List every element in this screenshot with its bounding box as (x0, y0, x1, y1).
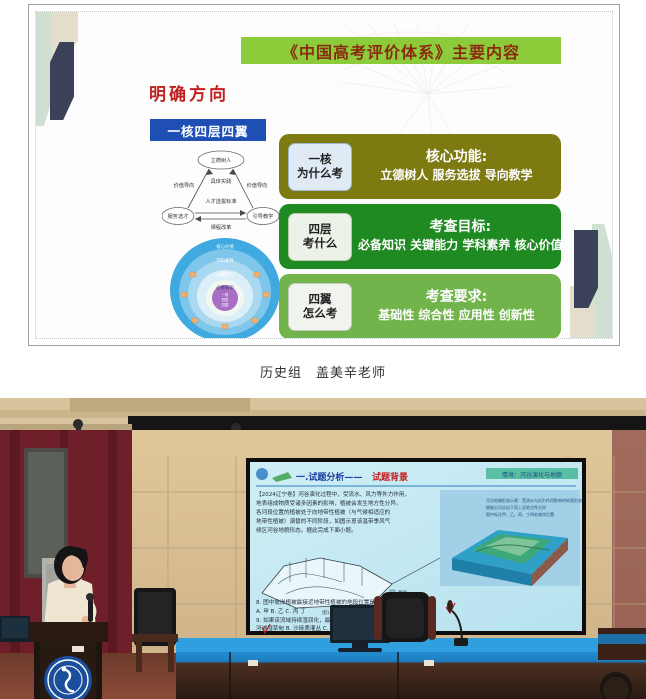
row-badge-wings-top: 四翼 (309, 293, 332, 306)
row-heading-core: 核心功能: (358, 148, 555, 167)
svg-text:价值导向: 价值导向 (247, 181, 268, 189)
svg-text:8. 图中坡岸植被最接近地带性植被的地段位置是: 8. 图中坡岸植被最接近地带性植被的地段位置是 (256, 598, 375, 606)
svg-text:一.试题分析——: 一.试题分析—— (296, 471, 362, 483)
svg-text:【2024辽宁卷】河谷演化过程中，受流水、风力等外力作用，: 【2024辽宁卷】河谷演化过程中，受流水、风力等外力作用， (256, 490, 410, 498)
presentation-slide: 《中国高考评价体系》主要内容 明确方向 一核四层四翼 (28, 4, 620, 346)
svg-text:试题背景: 试题背景 (372, 471, 408, 483)
svg-text:候区河谷地貌形态。据此完成下面小题。: 候区河谷地貌形态。据此完成下面小题。 (256, 526, 357, 534)
svg-text:地表组成物质受诸多因素的影响，植被会发生地方性分异。: 地表组成物质受诸多因素的影响，植被会发生地方性分异。 (256, 499, 401, 507)
slide-title-band: 《中国高考评价体系》主要内容 (241, 37, 561, 64)
svg-text:情境：河谷演化与地貌: 情境：河谷演化与地貌 (502, 471, 562, 479)
svg-text:图中标注甲、乙、丙、丁四处坡岸位置: 图中标注甲、乙、丙、丁四处坡岸位置 (486, 511, 554, 517)
lecture-hall-photo: 一.试题分析—— 试题背景 情境：河谷演化与地貌 【2024辽宁卷】河谷演化过程… (0, 398, 646, 699)
svg-text:价值导向: 价值导向 (174, 181, 195, 189)
svg-text:引导教学: 引导教学 (253, 212, 274, 220)
section-heading: 明确方向 (149, 80, 229, 105)
svg-text:服务选才: 服务选才 (168, 212, 189, 220)
lecture-hall-scene: 一.试题分析—— 试题背景 情境：河谷演化与地貌 【2024辽宁卷】河谷演化过程… (0, 398, 646, 699)
row-text-core: 核心功能: 立德树人 服务选拔 导向教学 (352, 148, 561, 184)
row-heading-layers: 考查目标: (358, 218, 563, 237)
row-text-wings: 考查要求: 基础性 综合性 应用性 创新性 (352, 288, 561, 324)
svg-text:四层: 四层 (222, 297, 229, 302)
row-items-core: 立德树人 服务选拔 导向教学 (358, 167, 555, 184)
row-items-layers: 必备知识 关键能力 学科素养 核心价值 (358, 237, 563, 254)
content-row-wings: 四翼 怎么考 考查要求: 基础性 综合性 应用性 创新性 (279, 274, 561, 339)
content-row-layers: 四层 考什么 考查目标: 必备知识 关键能力 学科素养 核心价值 (279, 204, 561, 269)
row-text-layers: 考查目标: 必备知识 关键能力 学科素养 核心价值 (352, 218, 569, 254)
svg-text:一核: 一核 (222, 292, 229, 297)
svg-text:人才选拔标准: 人才选拔标准 (205, 197, 236, 205)
slide-image-region: 《中国高考评价体系》主要内容 明确方向 一核四层四翼 (0, 0, 646, 352)
svg-text:四翼: 四翼 (222, 302, 229, 307)
row-badge-layers-top: 四层 (309, 223, 332, 236)
svg-text:立德树人: 立德树人 (211, 156, 232, 164)
svg-text:植被沿河谷自下而上呈地方性分异: 植被沿河谷自下而上呈地方性分异 (486, 504, 546, 510)
content-row-core: 一核 为什么考 核心功能: 立德树人 服务选拔 导向教学 (279, 134, 561, 199)
svg-text:核心价值: 核心价值 (216, 243, 234, 250)
row-heading-wings: 考查要求: (358, 288, 555, 307)
svg-text:课程改革: 课程改革 (211, 223, 232, 231)
svg-text:各河段位置的植被处于向地带性植被（与气候相适应的: 各河段位置的植被处于向地带性植被（与气候相适应的 (256, 508, 391, 516)
row-badge-core-bottom: 为什么考 (297, 167, 343, 180)
row-badge-layers-bottom: 考什么 (303, 237, 338, 250)
row-badge-layers: 四层 考什么 (288, 213, 352, 261)
slide-inner-frame: 《中国高考评价体系》主要内容 明确方向 一核四层四翼 (35, 11, 613, 339)
slide-title-text: 《中国高考评价体系》主要内容 (282, 39, 520, 63)
framework-band: 一核四层四翼 (150, 119, 266, 141)
svg-text:A. 甲 B. 乙 C. 丙: A. 甲 B. 乙 C. 丙 丁 (256, 608, 306, 615)
framework-band-label: 一核四层四翼 (167, 121, 248, 140)
row-items-wings: 基础性 综合性 应用性 创新性 (358, 307, 555, 324)
triangle-relationship-diagram: 立德树人 服务选才 引导教学 价值导向 价值导向 具体实践 人才选拔标准 课程改… (162, 147, 280, 235)
svg-text:关键能力: 关键能力 (216, 271, 234, 278)
svg-text:学科素养: 学科素养 (216, 257, 234, 264)
svg-text:河谷地貌形态示意：受流水与风力作用影响的地表形态: 河谷地貌形态示意：受流水与风力作用影响的地表形态 (486, 497, 582, 503)
image-caption: 历史组 盖美辛老师 (0, 362, 646, 381)
row-badge-core-top: 一核 (309, 153, 332, 166)
concentric-ring-diagram: 核心价值 学科素养 关键能力 必备知识 一核 四层 四翼 (168, 236, 282, 339)
row-badge-core: 一核 为什么考 (288, 143, 352, 191)
svg-text:图1: 图1 (322, 610, 329, 616)
row-badge-wings-bottom: 怎么考 (303, 307, 338, 320)
svg-text:必备知识: 必备知识 (216, 284, 234, 291)
page-root: 《中国高考评价体系》主要内容 明确方向 一核四层四翼 (0, 0, 646, 699)
svg-text:地带性植被）演替的不同阶段，如图示意该温带季风气: 地带性植被）演替的不同阶段，如图示意该温带季风气 (256, 517, 391, 525)
row-badge-wings: 四翼 怎么考 (288, 283, 352, 331)
svg-text:具体实践: 具体实践 (211, 177, 232, 185)
